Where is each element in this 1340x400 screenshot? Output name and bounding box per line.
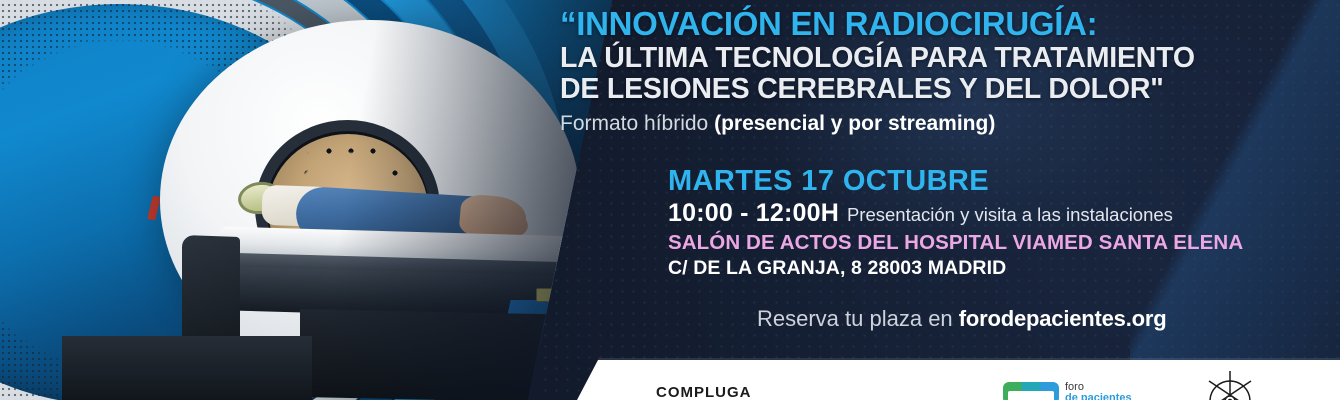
footer-top-hairline bbox=[598, 358, 1340, 360]
event-time: 10:00 - 12:00H bbox=[668, 199, 839, 228]
reservation-prefix: Reserva tu plaza en bbox=[757, 306, 959, 331]
event-time-note: Presentación y visita a las instalacione… bbox=[847, 204, 1173, 226]
headline-line-3: DE LESIONES CEREBRALES Y DEL DOLOR" bbox=[560, 74, 1320, 105]
event-venue: SALÓN DE ACTOS DEL HOSPITAL VIAMED SANTA… bbox=[668, 231, 1328, 255]
banner-content: “INNOVACIÓN EN RADIOCIRUGÍA: LA ÚLTIMA T… bbox=[0, 0, 1340, 400]
foro-de-pacientes-logo[interactable]: foro de pacientes bbox=[1003, 382, 1132, 400]
headline-line-1: “INNOVACIÓN EN RADIOCIRUGÍA: bbox=[560, 6, 1320, 42]
footer-logo-row: COMPLUGA foro de pacientes bbox=[598, 360, 1340, 400]
format-line: Formato híbrido (presencial y por stream… bbox=[560, 112, 1320, 136]
compluga-logo[interactable]: COMPLUGA bbox=[656, 384, 752, 400]
event-details-block: MARTES 17 OCTUBRE 10:00 - 12:00H Present… bbox=[668, 165, 1328, 280]
reservation-line[interactable]: Reserva tu plaza en forodepacientes.org bbox=[757, 306, 1166, 332]
reservation-website[interactable]: forodepacientes.org bbox=[959, 306, 1167, 331]
event-address: C/ DE LA GRANJA, 8 28003 MADRID bbox=[668, 257, 1328, 280]
foro-logo-text: foro de pacientes bbox=[1065, 382, 1132, 400]
headline-block: “INNOVACIÓN EN RADIOCIRUGÍA: LA ÚLTIMA T… bbox=[560, 6, 1320, 136]
foro-mark-icon bbox=[1003, 382, 1059, 400]
event-date: MARTES 17 OCTUBRE bbox=[668, 165, 1328, 198]
ship-wheel-logo[interactable] bbox=[1193, 365, 1267, 400]
foro-logo-line-2: de pacientes bbox=[1065, 393, 1132, 400]
format-bold: (presencial y por streaming) bbox=[714, 112, 995, 135]
event-time-row: 10:00 - 12:00H Presentación y visita a l… bbox=[668, 199, 1328, 228]
format-prefix: Formato híbrido bbox=[560, 112, 714, 135]
headline-line-2: LA ÚLTIMA TECNOLOGÍA PARA TRATAMIENTO bbox=[560, 43, 1320, 74]
ship-wheel-icon bbox=[1193, 365, 1267, 400]
event-banner: “INNOVACIÓN EN RADIOCIRUGÍA: LA ÚLTIMA T… bbox=[0, 0, 1340, 400]
